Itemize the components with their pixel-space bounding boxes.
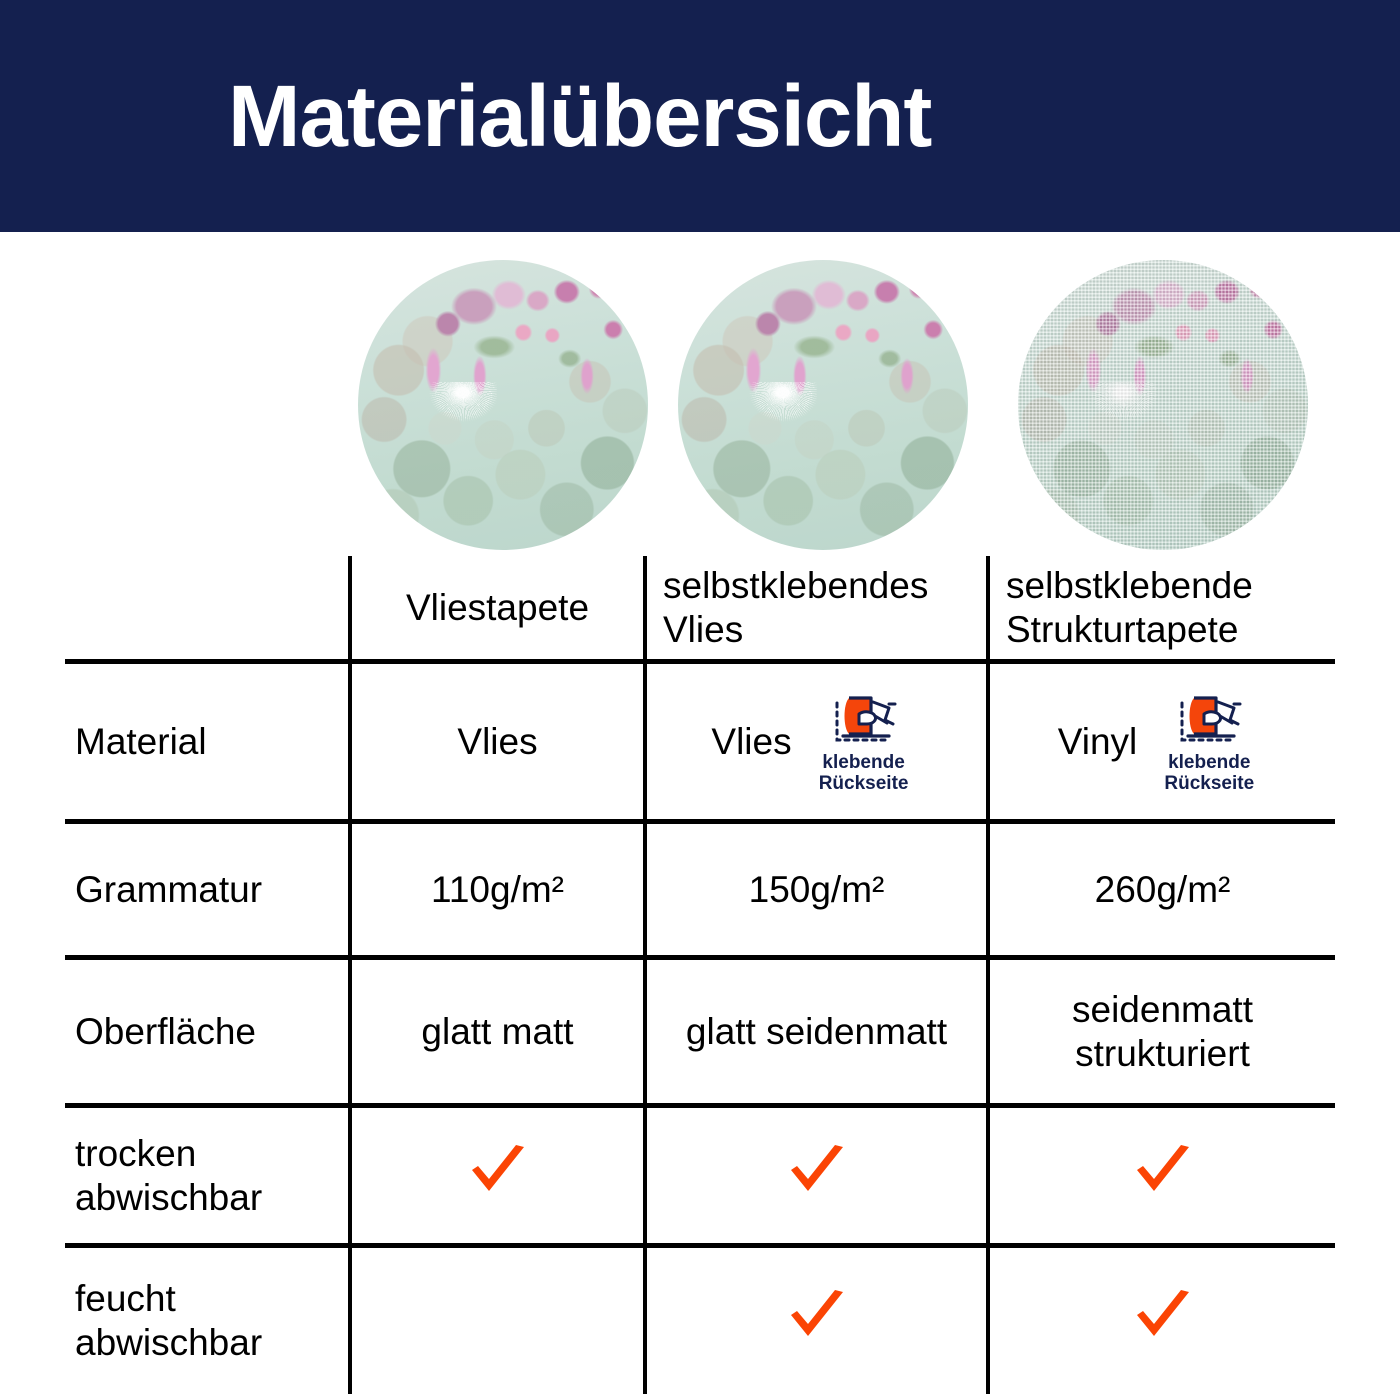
cell-material-vliestapete: Vlies: [350, 662, 645, 822]
table-row-material: Material Vlies Vlies: [65, 662, 1335, 822]
cell-trocken-selbstklebende-strukturtapete: [988, 1106, 1335, 1246]
material-overview-page: Materialübersicht: [0, 0, 1400, 1400]
cell-feucht-selbstklebende-strukturtapete: [988, 1246, 1335, 1394]
check-icon: [785, 1288, 849, 1344]
cell-material-selbstklebendes-vlies: Vlies: [645, 662, 988, 822]
swatch-vliestapete: [358, 260, 648, 550]
table-row-trocken-abwischbar: trocken abwischbar: [65, 1106, 1335, 1246]
swatch-selbstklebendes-vlies: [678, 260, 968, 550]
row-label-material: Material: [65, 662, 350, 822]
row-label-feucht-abwischbar: feucht abwischbar: [65, 1246, 350, 1394]
cell-feucht-vliestapete: [350, 1246, 645, 1394]
cell-grammatur-selbstklebendes-vlies: 150g/m²: [645, 822, 988, 958]
material-comparison-table: Vliestapete selbstklebendes Vlies selbst…: [65, 556, 1335, 1394]
row-label-grammatur: Grammatur: [65, 822, 350, 958]
column-header-vliestapete: Vliestapete: [350, 556, 645, 662]
peel-backing-icon: [1174, 690, 1244, 750]
swatch-row: [0, 258, 1400, 556]
swatch-selbstklebende-strukturtapete: [1018, 260, 1308, 550]
check-icon: [1131, 1288, 1195, 1344]
header-banner: Materialübersicht: [0, 0, 1400, 232]
page-title: Materialübersicht: [228, 73, 931, 160]
cell-trocken-vliestapete: [350, 1106, 645, 1246]
cell-feucht-selbstklebendes-vlies: [645, 1246, 988, 1394]
badge-label: klebendeRückseite: [819, 752, 909, 795]
cell-grammatur-vliestapete: 110g/m²: [350, 822, 645, 958]
cell-oberflaeche-selbstklebendes-vlies: glatt seidenmatt: [645, 958, 988, 1106]
table-header-row: Vliestapete selbstklebendes Vlies selbst…: [65, 556, 1335, 662]
row-label-trocken-abwischbar: trocken abwischbar: [65, 1106, 350, 1246]
badge-label: klebendeRückseite: [1164, 752, 1254, 795]
cell-material-selbstklebende-strukturtapete: Vinyl: [988, 662, 1335, 822]
cell-oberflaeche-selbstklebende-strukturtapete: seidenmatt strukturiert: [988, 958, 1335, 1106]
check-icon: [466, 1143, 530, 1199]
cell-value: Vinyl: [1058, 720, 1138, 764]
row-label-oberflaeche: Oberfläche: [65, 958, 350, 1106]
table-row-grammatur: Grammatur 110g/m² 150g/m² 260g/m²: [65, 822, 1335, 958]
cell-value: Vlies: [711, 720, 791, 764]
cell-oberflaeche-vliestapete: glatt matt: [350, 958, 645, 1106]
table-row-feucht-abwischbar: feucht abwischbar: [65, 1246, 1335, 1394]
cell-grammatur-selbstklebende-strukturtapete: 260g/m²: [988, 822, 1335, 958]
weave-texture: [1018, 260, 1308, 550]
klebende-rueckseite-badge: klebendeRückseite: [1151, 690, 1267, 795]
klebende-rueckseite-badge: klebendeRückseite: [806, 690, 922, 795]
peel-backing-icon: [829, 690, 899, 750]
check-icon: [1131, 1143, 1195, 1199]
column-header-selbstklebendes-vlies: selbstklebendes Vlies: [645, 556, 988, 662]
header-corner-cell: [65, 556, 350, 662]
column-header-selbstklebende-strukturtapete: selbstklebende Strukturtapete: [988, 556, 1335, 662]
check-icon: [785, 1143, 849, 1199]
cell-trocken-selbstklebendes-vlies: [645, 1106, 988, 1246]
table-row-oberflaeche: Oberfläche glatt matt glatt seidenmatt s…: [65, 958, 1335, 1106]
